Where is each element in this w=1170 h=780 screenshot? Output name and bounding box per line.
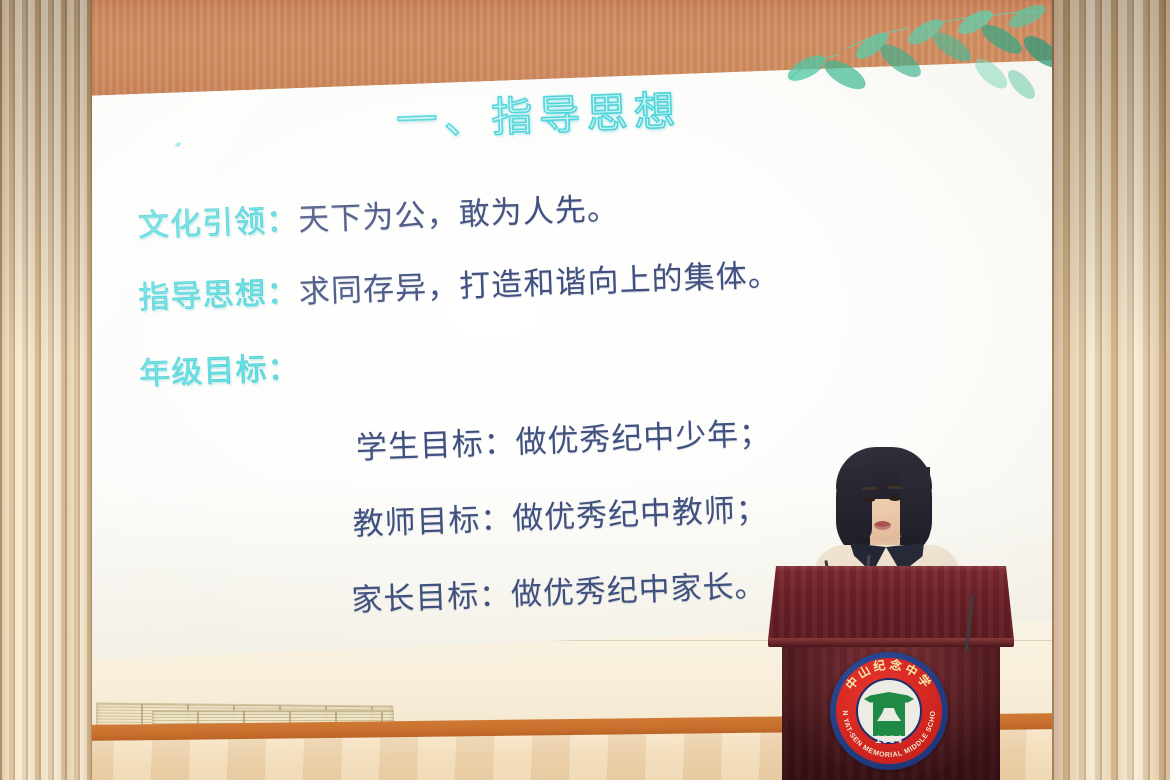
slide-line-thought-text: 求同存异，打造和谐向上的集体。 [298, 257, 780, 309]
slide-line-culture-text: 天下为公，敢为人先。 [298, 191, 620, 237]
curtain-right-shading [1052, 0, 1170, 360]
speaker-eye-left [863, 497, 875, 502]
podium-top [768, 566, 1014, 640]
speaker-eye-right [889, 496, 901, 501]
auditorium-scene: 一、指导思想 文化引领：天下为公，敢为人先。 指导思想：求同存异，打造和谐向上的… [0, 0, 1170, 780]
slide-line-goals-label: 年级目标： [139, 350, 301, 391]
slide-speck [175, 142, 182, 148]
emblem-en-text: SUN YAT-SEN MEMORIAL MIDDLE SCHOOL [830, 652, 937, 759]
slide-line-thought-label: 指导思想： [138, 274, 300, 315]
speaker-hair-front [836, 447, 932, 499]
curtain-left [0, 0, 92, 780]
speaker-mouth [874, 521, 891, 530]
school-emblem: 1934 中山纪念中学 SUN YAT-SEN MEMORIAL MIDDLE … [830, 652, 948, 770]
slide-subgoal-student: 学生目标：做优秀纪中少年； [355, 408, 771, 468]
slide-line-goals: 年级目标： [138, 343, 300, 394]
podium-lip [768, 638, 1014, 647]
curtain-right [1052, 0, 1170, 780]
svg-text:SUN YAT-SEN MEMORIAL MIDDLE SC: SUN YAT-SEN MEMORIAL MIDDLE SCHOOL [830, 652, 937, 759]
slide-subgoal-parent: 家长目标：做优秀纪中家长。 [351, 560, 767, 620]
slide-line-culture: 文化引领：天下为公，敢为人先。 [137, 183, 620, 245]
speaker-brow-left [862, 487, 877, 490]
emblem-english-name: SUN YAT-SEN MEMORIAL MIDDLE SCHOOL [830, 652, 948, 770]
slide-line-thought: 指导思想：求同存异，打造和谐向上的集体。 [138, 249, 781, 317]
podium: 1934 中山纪念中学 SUN YAT-SEN MEMORIAL MIDDLE … [768, 566, 1014, 780]
slide-subgoal-teacher: 教师目标：做优秀纪中教师； [352, 484, 768, 544]
speaker-brow-right [888, 486, 903, 489]
curtain-left-shading [0, 0, 92, 360]
slide-title: 一、指导思想 [395, 68, 917, 147]
slide-line-culture-label: 文化引领： [137, 202, 299, 243]
